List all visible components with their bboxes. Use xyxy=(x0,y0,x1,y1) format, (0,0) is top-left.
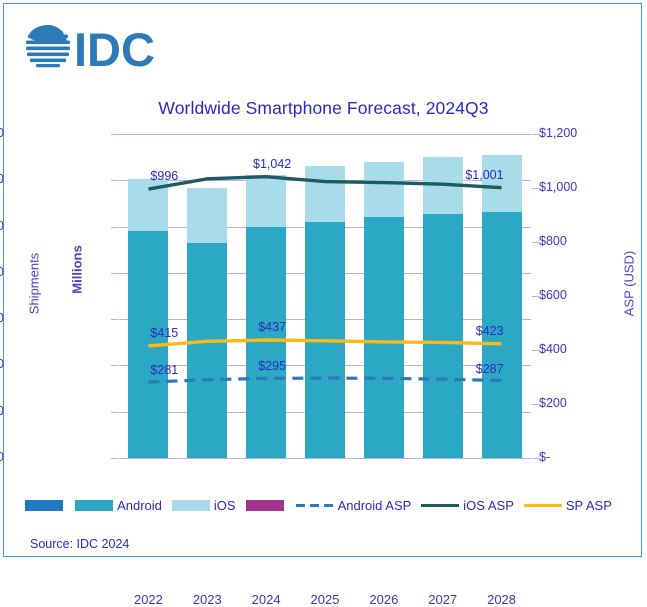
line-android-asp xyxy=(148,378,501,382)
data-label: $1,042 xyxy=(245,157,299,171)
right-tick-mark xyxy=(532,296,539,297)
left-tick-label: 200 xyxy=(0,404,4,418)
right-tick-label: $800 xyxy=(539,234,609,248)
x-axis-label: 2026 xyxy=(354,592,414,607)
right-tick-mark xyxy=(532,350,539,351)
legend-item-series-android[interactable]: Android xyxy=(75,498,172,513)
left-tick-mark xyxy=(111,412,118,413)
line-sp-asp xyxy=(148,340,501,346)
data-label: $423 xyxy=(450,324,504,338)
legend-label: Android xyxy=(117,498,162,513)
legend-swatch xyxy=(172,500,210,511)
left-tick-label: 400 xyxy=(0,357,4,371)
idc-logo: IDC xyxy=(26,22,176,74)
source-note: Source: IDC 2024 xyxy=(30,537,129,551)
left-tick-label: 1400 xyxy=(0,126,4,140)
left-tick-mark xyxy=(111,273,118,274)
left-tick-mark xyxy=(111,458,118,459)
legend-item-series-unlabeled-magenta[interactable] xyxy=(246,500,296,511)
data-label: $996 xyxy=(150,169,204,183)
left-tick-mark xyxy=(111,227,118,228)
x-axis-label: 2024 xyxy=(236,592,296,607)
x-axis-label: 2028 xyxy=(472,592,532,607)
right-tick-mark xyxy=(532,242,539,243)
page-title: Worldwide Smartphone Forecast, 2024Q3 xyxy=(4,98,643,119)
left-tick-label: 0 xyxy=(0,450,4,464)
data-label: $415 xyxy=(150,326,204,340)
legend-item-series-unlabeled-darkblue[interactable] xyxy=(25,500,75,511)
legend-item-series-ios-asp[interactable]: iOS ASP xyxy=(421,498,524,513)
left-tick-label: 600 xyxy=(0,311,4,325)
right-tick-label: $200 xyxy=(539,396,609,410)
left-tick-mark xyxy=(111,365,118,366)
right-tick-label: $- xyxy=(539,450,609,464)
right-tick-mark xyxy=(532,134,539,135)
data-label: $1,001 xyxy=(450,168,504,182)
left-tick-mark xyxy=(111,319,118,320)
left-tick-mark xyxy=(111,180,118,181)
left-tick-label: 1200 xyxy=(0,172,4,186)
idc-globe-logo: IDC xyxy=(26,22,176,74)
right-tick-label: $1,200 xyxy=(539,126,609,140)
legend-item-series-android-asp[interactable]: Android ASP xyxy=(296,498,422,513)
right-axis-label: ASP (USD) xyxy=(622,229,637,339)
plot-area: 0200400600800100012001400 $1,200$1,000$8… xyxy=(119,134,531,458)
left-axis-outer-label: Shipments xyxy=(27,229,42,339)
data-label: $437 xyxy=(245,320,299,334)
gridline xyxy=(119,458,531,459)
data-label: $281 xyxy=(150,363,204,377)
right-tick-mark xyxy=(532,404,539,405)
right-tick-mark xyxy=(532,458,539,459)
legend-swatch xyxy=(75,500,113,511)
right-tick-mark xyxy=(532,188,539,189)
left-tick-mark xyxy=(111,134,118,135)
right-tick-label: $1,000 xyxy=(539,180,609,194)
legend-item-series-sp-asp[interactable]: SP ASP xyxy=(524,498,622,513)
legend-label: SP ASP xyxy=(566,498,612,513)
legend-label: Android ASP xyxy=(338,498,412,513)
data-label: $287 xyxy=(450,362,504,376)
legend-swatch xyxy=(25,500,63,511)
x-axis-label: 2022 xyxy=(118,592,178,607)
legend-label: iOS xyxy=(214,498,236,513)
right-tick-label: $400 xyxy=(539,342,609,356)
left-axis-inner-label: Millions xyxy=(70,215,85,325)
left-tick-label: 800 xyxy=(0,265,4,279)
data-label: $295 xyxy=(245,359,299,373)
right-tick-label: $600 xyxy=(539,288,609,302)
legend-label: iOS ASP xyxy=(463,498,514,513)
chart-frame: IDC Worldwide Smartphone Forecast, 2024Q… xyxy=(3,3,642,557)
logo-text: IDC xyxy=(74,23,155,74)
legend: AndroidiOSAndroid ASPiOS ASPSP ASP xyxy=(4,498,643,513)
legend-swatch xyxy=(246,500,284,511)
x-axis-label: 2023 xyxy=(177,592,237,607)
x-axis-label: 2027 xyxy=(413,592,473,607)
x-axis-label: 2025 xyxy=(295,592,355,607)
left-tick-label: 1000 xyxy=(0,219,4,233)
legend-item-series-ios[interactable]: iOS xyxy=(172,498,246,513)
